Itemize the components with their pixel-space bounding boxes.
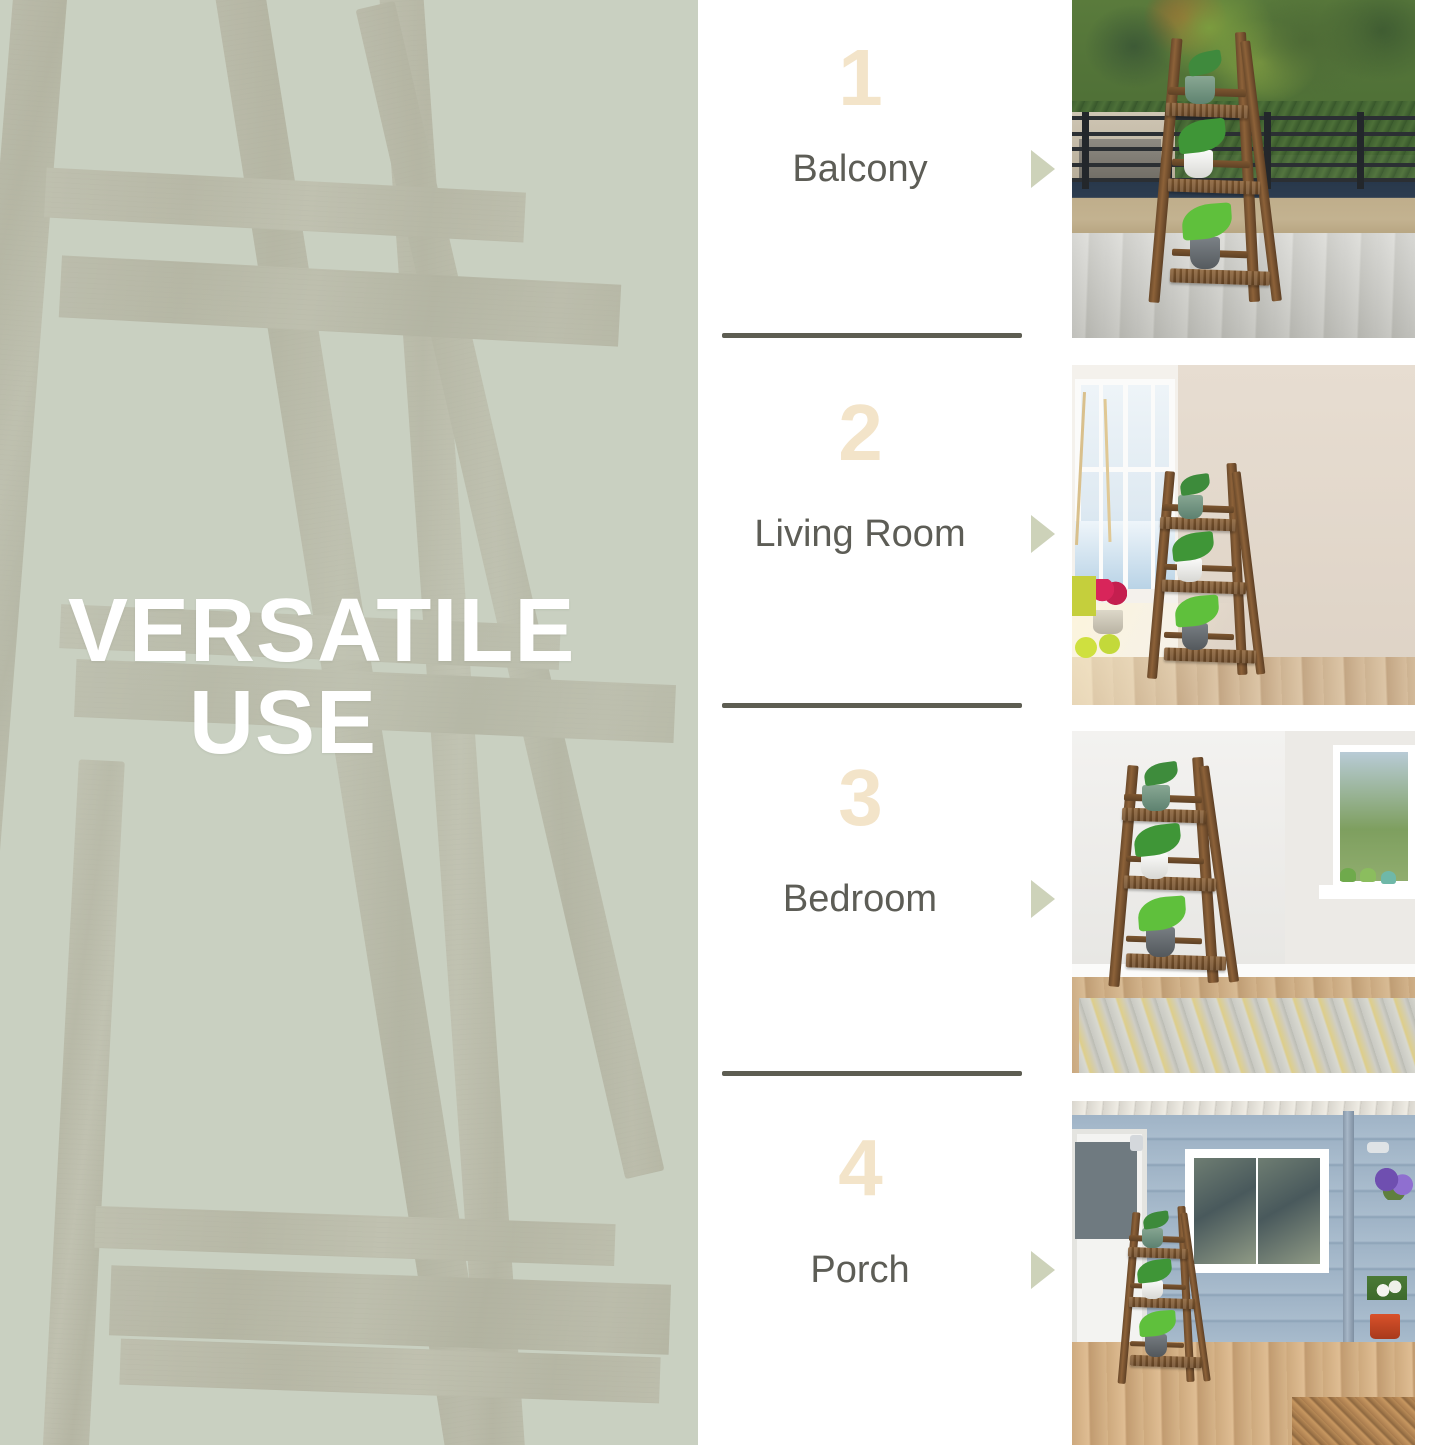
wall-lamp-icon [1130, 1135, 1143, 1151]
hero-panel: VERSATILE USE [0, 0, 698, 1445]
green-vase [1142, 785, 1170, 811]
sill-plant [1381, 871, 1396, 884]
triangle-right-icon[interactable] [1031, 880, 1055, 918]
list-item-porch[interactable]: 4 Porch [698, 1073, 1075, 1445]
grey-pot [1145, 1334, 1167, 1357]
grey-pot [1146, 927, 1175, 957]
page-title-line-1: VERSATILE [68, 586, 658, 678]
balcony-photo [1072, 0, 1415, 338]
apple [1099, 634, 1120, 654]
list-item-bedroom[interactable]: 3 Bedroom [698, 706, 1075, 1073]
page-title-line-2: USE [68, 678, 658, 770]
window [1333, 745, 1415, 889]
green-vase [1185, 76, 1215, 104]
list-item-label: Porch [698, 1249, 1022, 1291]
usage-list-panel: 1 Balcony 2 Living Room 3 Bedroom 4 Porc… [698, 0, 1075, 1445]
list-item-living-room[interactable]: 2 Living Room [698, 338, 1075, 706]
grey-pot [1182, 623, 1208, 650]
deck-lattice [1292, 1397, 1415, 1445]
list-item-number: 4 [698, 1128, 1022, 1208]
triangle-right-icon[interactable] [1031, 150, 1055, 188]
white-pot [1141, 853, 1168, 879]
green-vase [1178, 495, 1203, 519]
triangle-right-icon[interactable] [1031, 515, 1055, 553]
sill-plant [1360, 868, 1376, 882]
plant-stand [1120, 1206, 1212, 1386]
white-pot [1184, 150, 1213, 178]
list-item-balcony[interactable]: 1 Balcony [698, 0, 1075, 338]
living-room-photo [1072, 365, 1415, 705]
plant-stand [1152, 32, 1297, 312]
list-item-label: Balcony [698, 148, 1022, 190]
plant-stand [1150, 463, 1270, 683]
list-item-number: 2 [698, 393, 1022, 473]
hanging-flowers [1374, 1166, 1415, 1200]
list-item-label: Living Room [698, 513, 1022, 555]
list-item-number: 1 [698, 38, 1022, 118]
white-pot [1177, 558, 1202, 582]
downspout [1367, 1142, 1389, 1153]
plant-stand [1112, 757, 1242, 987]
versatile-use-infographic: VERSATILE USE 1 Balcony 2 Living Room 3 … [0, 0, 1445, 1445]
sill-plant [1340, 868, 1356, 882]
list-item-label: Bedroom [698, 878, 1022, 920]
page-title: VERSATILE USE [68, 586, 658, 770]
triangle-right-icon[interactable] [1031, 1251, 1055, 1289]
green-vase [1142, 1228, 1163, 1248]
area-rug [1079, 998, 1415, 1073]
grey-pot [1190, 237, 1220, 269]
list-item-number: 3 [698, 758, 1022, 838]
porch-photo [1072, 1101, 1415, 1445]
red-planter [1370, 1314, 1400, 1339]
bedroom-photo [1072, 731, 1415, 1073]
